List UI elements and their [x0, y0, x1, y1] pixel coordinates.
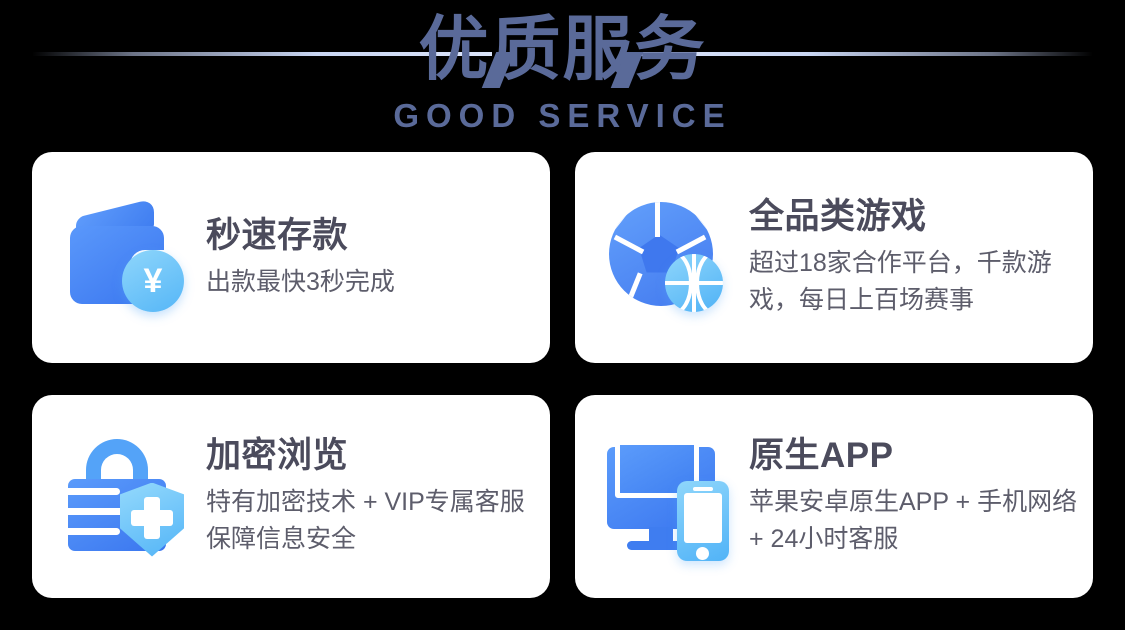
- phone-home-button: [696, 547, 709, 560]
- soccer-seam: [655, 202, 660, 237]
- basketball-curve: [695, 254, 723, 312]
- card-subtitle: 苹果安卓原生APP + 手机网络 + 24小时客服: [749, 484, 1079, 558]
- soccer-basketball-icon: [603, 192, 735, 324]
- card-subtitle: 特有加密技术 + VIP专属客服保障信息安全: [206, 484, 536, 558]
- card-subtitle: 超过18家合作平台，千款游戏，每日上百场赛事: [749, 245, 1079, 319]
- card-subtitle: 出款最快3秒完成: [206, 264, 536, 301]
- phone-speaker: [693, 487, 713, 491]
- soccer-seam: [696, 213, 713, 234]
- phone-screen: [684, 493, 722, 543]
- soccer-seam: [609, 213, 626, 234]
- feature-card-games[interactable]: 全品类游戏 超过18家合作平台，千款游戏，每日上百场赛事: [575, 152, 1093, 363]
- basketball-icon: [665, 254, 723, 312]
- soccer-seam: [614, 234, 645, 253]
- lock-slot: [68, 488, 120, 495]
- card-text-block: 原生APP 苹果安卓原生APP + 手机网络 + 24小时客服: [749, 435, 1093, 558]
- feature-card-grid: ¥ 秒速存款 出款最快3秒完成: [32, 152, 1093, 598]
- basketball-curve: [665, 254, 693, 312]
- card-text-block: 秒速存款 出款最快3秒完成: [206, 215, 550, 301]
- page-subtitle: GOOD SERVICE: [0, 98, 1125, 134]
- lock-slot: [68, 528, 120, 535]
- card-title: 加密浏览: [206, 435, 536, 477]
- lock-shield-icon: [60, 431, 192, 563]
- card-text-block: 加密浏览 特有加密技术 + VIP专属客服保障信息安全: [206, 435, 550, 558]
- card-text-block: 全品类游戏 超过18家合作平台，千款游戏，每日上百场赛事: [749, 196, 1093, 319]
- soccer-seam: [676, 234, 707, 253]
- yen-coin-icon: ¥: [122, 250, 184, 312]
- wallet-coin-icon: ¥: [60, 192, 192, 324]
- feature-card-deposit[interactable]: ¥ 秒速存款 出款最快3秒完成: [32, 152, 550, 363]
- page-title: 优质服务: [0, 10, 1125, 88]
- page-header: 优质服务 GOOD SERVICE: [0, 0, 1125, 148]
- feature-card-native-app[interactable]: 原生APP 苹果安卓原生APP + 手机网络 + 24小时客服: [575, 395, 1093, 598]
- monitor-phone-icon: [603, 431, 735, 563]
- card-title: 全品类游戏: [749, 196, 1079, 238]
- soccer-seam: [624, 272, 642, 306]
- plus-icon: [131, 510, 173, 526]
- feature-card-encryption[interactable]: 加密浏览 特有加密技术 + VIP专属客服保障信息安全: [32, 395, 550, 598]
- card-title: 秒速存款: [206, 215, 536, 257]
- card-title: 原生APP: [749, 435, 1079, 477]
